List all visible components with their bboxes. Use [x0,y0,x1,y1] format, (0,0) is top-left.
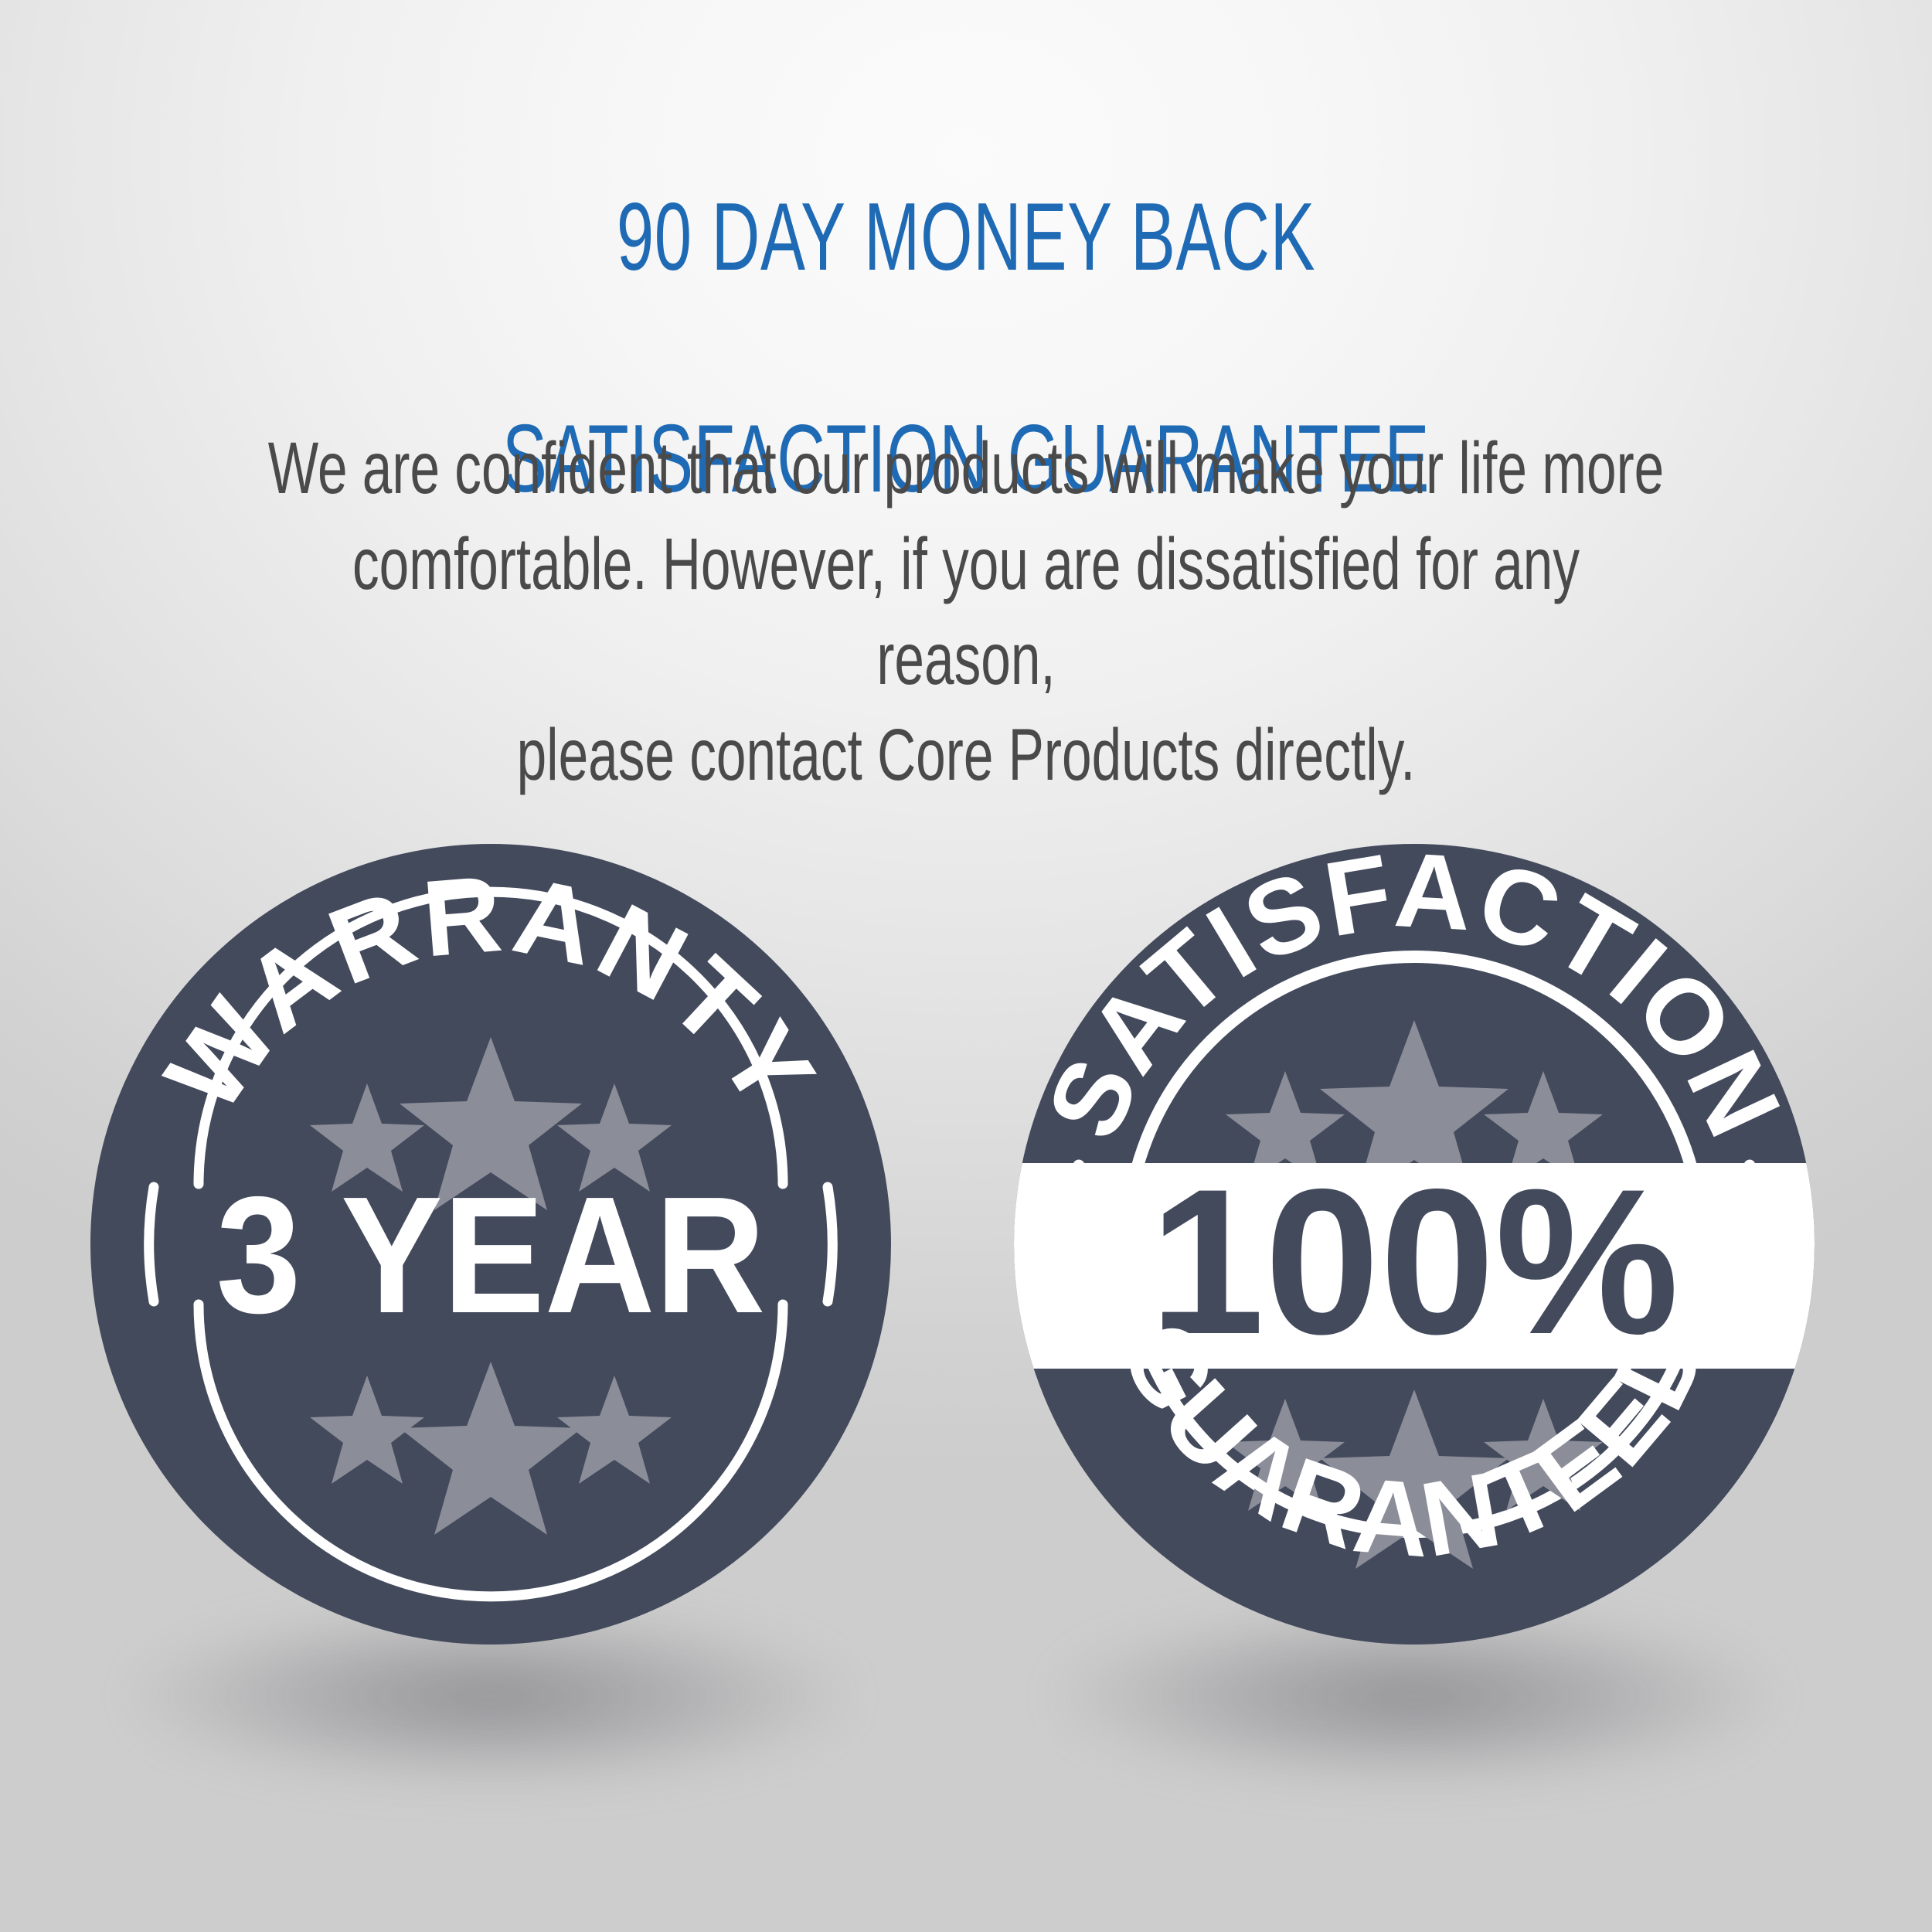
guarantee-description: We are confident that our products will … [261,421,1672,803]
guarantee-graphic: 90 DAY MONEY BACK SATISFACTION GUARANTEE… [0,0,1932,1932]
page-title-line-1: 90 DAY MONEY BACK [290,182,1642,294]
warranty-badge-svg: WARRANTY 3 YEAR [81,835,900,1654]
warranty-badge: WARRANTY 3 YEAR [81,835,900,1654]
warranty-term-label: 3 YEAR [216,1162,766,1347]
satisfaction-badge: 100% SATISFACTION GUARANTEED [1005,835,1824,1654]
satisfaction-percent-label: 100% [1149,1145,1679,1377]
guarantee-description-line-2: comfortable. However, if you are dissati… [261,517,1672,708]
guarantee-description-line-1: We are confident that our products will … [261,421,1672,517]
satisfaction-badge-svg: 100% SATISFACTION GUARANTEED [1005,835,1824,1654]
badge-row: WARRANTY 3 YEAR [0,819,1932,1731]
guarantee-description-line-3: please contact Core Products directly. [261,708,1672,804]
